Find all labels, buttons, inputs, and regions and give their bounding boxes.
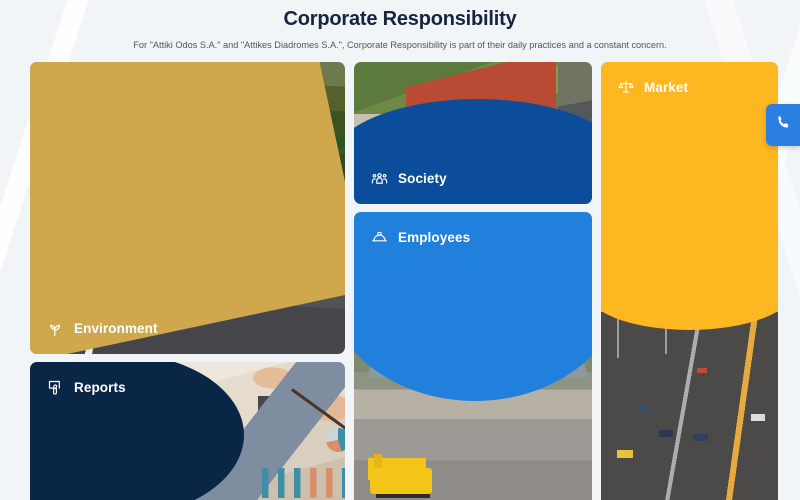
page-header: Corporate Responsibility For "Attiki Odo…: [0, 0, 800, 52]
page-title: Corporate Responsibility: [0, 6, 800, 32]
card-employees-label: Employees: [398, 230, 470, 245]
card-reports-label-group: Reports: [46, 378, 126, 397]
society-color-overlay: [354, 99, 592, 204]
phone-contact-button[interactable]: [766, 104, 800, 146]
card-employees-label-group: Employees: [370, 228, 470, 247]
group-people-icon: [370, 169, 389, 188]
hard-hat-icon: [370, 228, 389, 247]
responsibility-cards-grid: Environment Society: [30, 62, 772, 500]
card-society[interactable]: Society: [354, 62, 592, 204]
market-color-overlay: [601, 62, 778, 330]
reports-pie-chart-decoration: [326, 428, 345, 452]
card-society-label-group: Society: [370, 169, 447, 188]
card-market[interactable]: Market: [601, 62, 778, 500]
card-employees[interactable]: Employees: [354, 212, 592, 500]
card-society-label: Society: [398, 171, 447, 186]
employees-truck-decoration: [370, 468, 432, 494]
card-environment-label-group: Environment: [46, 319, 158, 338]
card-market-label: Market: [644, 80, 688, 95]
card-environment[interactable]: Environment: [30, 62, 345, 354]
report-document-icon: [46, 378, 65, 397]
card-reports-label: Reports: [74, 380, 126, 395]
phone-icon: [775, 114, 792, 136]
plant-leaf-icon: [46, 319, 65, 338]
card-reports[interactable]: Reports: [30, 362, 345, 500]
page-subtitle: For "Attiki Odos S.A." and "Attikes Diad…: [0, 39, 800, 52]
scales-balance-icon: [617, 78, 635, 96]
card-market-label-group: Market: [617, 78, 688, 96]
card-environment-label: Environment: [74, 321, 158, 336]
